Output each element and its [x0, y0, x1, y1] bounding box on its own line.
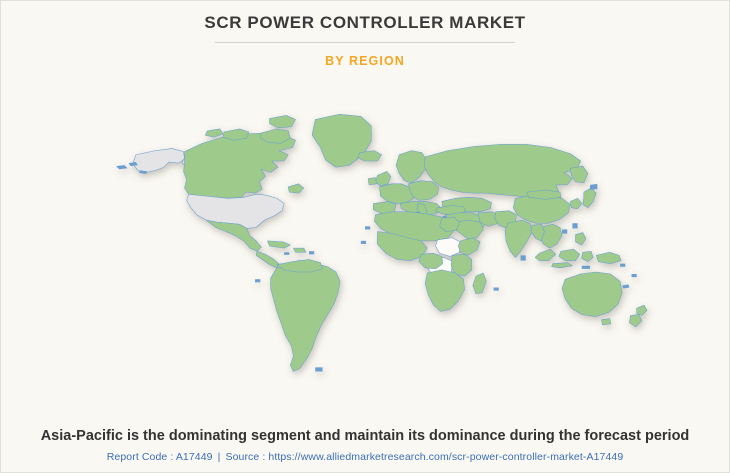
island-aleutian-1 — [116, 165, 127, 169]
country-united-states — [187, 194, 284, 228]
country-russia — [424, 144, 581, 197]
country-madagascar — [473, 273, 486, 294]
market-region-infographic-card: SCR POWER CONTROLLER MARKET BY REGION — [0, 0, 730, 473]
country-australia — [562, 272, 622, 317]
country-united-kingdom — [375, 171, 391, 186]
country-ireland — [368, 177, 376, 184]
country-new-zealand — [637, 305, 647, 315]
country-china — [513, 195, 570, 223]
region-horn-of-africa — [458, 238, 480, 256]
subtitle-by-region: BY REGION — [204, 54, 525, 68]
island-new-guinea — [596, 252, 621, 263]
country-myanmar — [531, 224, 544, 241]
island-new-caledonia — [622, 284, 629, 288]
island-taiwan — [572, 223, 577, 228]
island-sri-lanka — [521, 255, 526, 260]
country-sudan-unfilled — [436, 238, 461, 257]
title-divider — [215, 42, 515, 43]
footnote: Report Code : A17449|Source : https://ww… — [15, 451, 715, 463]
continent-south-america — [271, 260, 340, 371]
footnote-separator: | — [213, 451, 226, 463]
island-hainan — [562, 229, 567, 233]
region-central-america — [256, 251, 279, 268]
region-kamchatka — [570, 166, 588, 183]
island-borneo — [559, 249, 580, 260]
region-central-africa — [419, 253, 443, 269]
island-java — [552, 263, 573, 268]
island-mauritius — [494, 287, 499, 290]
world-map — [105, 105, 625, 385]
source-link[interactable]: Source : https://www.alliedmarketresearc… — [225, 451, 623, 463]
map-container — [0, 68, 730, 427]
island-galapagos — [255, 279, 260, 282]
report-code: Report Code : A17449 — [107, 451, 213, 463]
page-title: SCR POWER CONTROLLER MARKET — [204, 13, 525, 33]
island-puerto-rico — [309, 251, 314, 254]
island-sulawesi — [582, 251, 593, 261]
island-timor — [582, 266, 590, 269]
region-korea-japan — [570, 198, 581, 208]
country-philippines — [576, 232, 586, 244]
island-ellesmere — [270, 115, 296, 127]
island-fiji — [632, 274, 637, 277]
island-banks — [205, 129, 223, 137]
region-southern-africa — [425, 270, 464, 311]
country-india — [505, 220, 532, 257]
caption-text: Asia-Pacific is the dominating segment a… — [40, 427, 690, 447]
header: SCR POWER CONTROLLER MARKET BY REGION — [204, 1, 525, 68]
island-hispaniola — [293, 248, 305, 252]
island-jamaica — [284, 252, 289, 255]
country-japan — [583, 188, 596, 208]
island-victoria — [223, 129, 249, 140]
country-alaska — [133, 148, 185, 172]
country-norway-sweden-finland — [396, 151, 426, 183]
island-falklands — [315, 367, 322, 371]
island-cape-verde — [361, 241, 366, 244]
island-hokkaido — [590, 184, 597, 190]
island-newfoundland — [288, 184, 304, 193]
island-canary — [365, 226, 370, 229]
island-cuba — [268, 241, 291, 248]
island-solomon — [620, 264, 625, 267]
country-new-zealand-south — [629, 314, 641, 326]
island-tasmania — [601, 319, 610, 325]
island-sumatra — [535, 249, 556, 260]
